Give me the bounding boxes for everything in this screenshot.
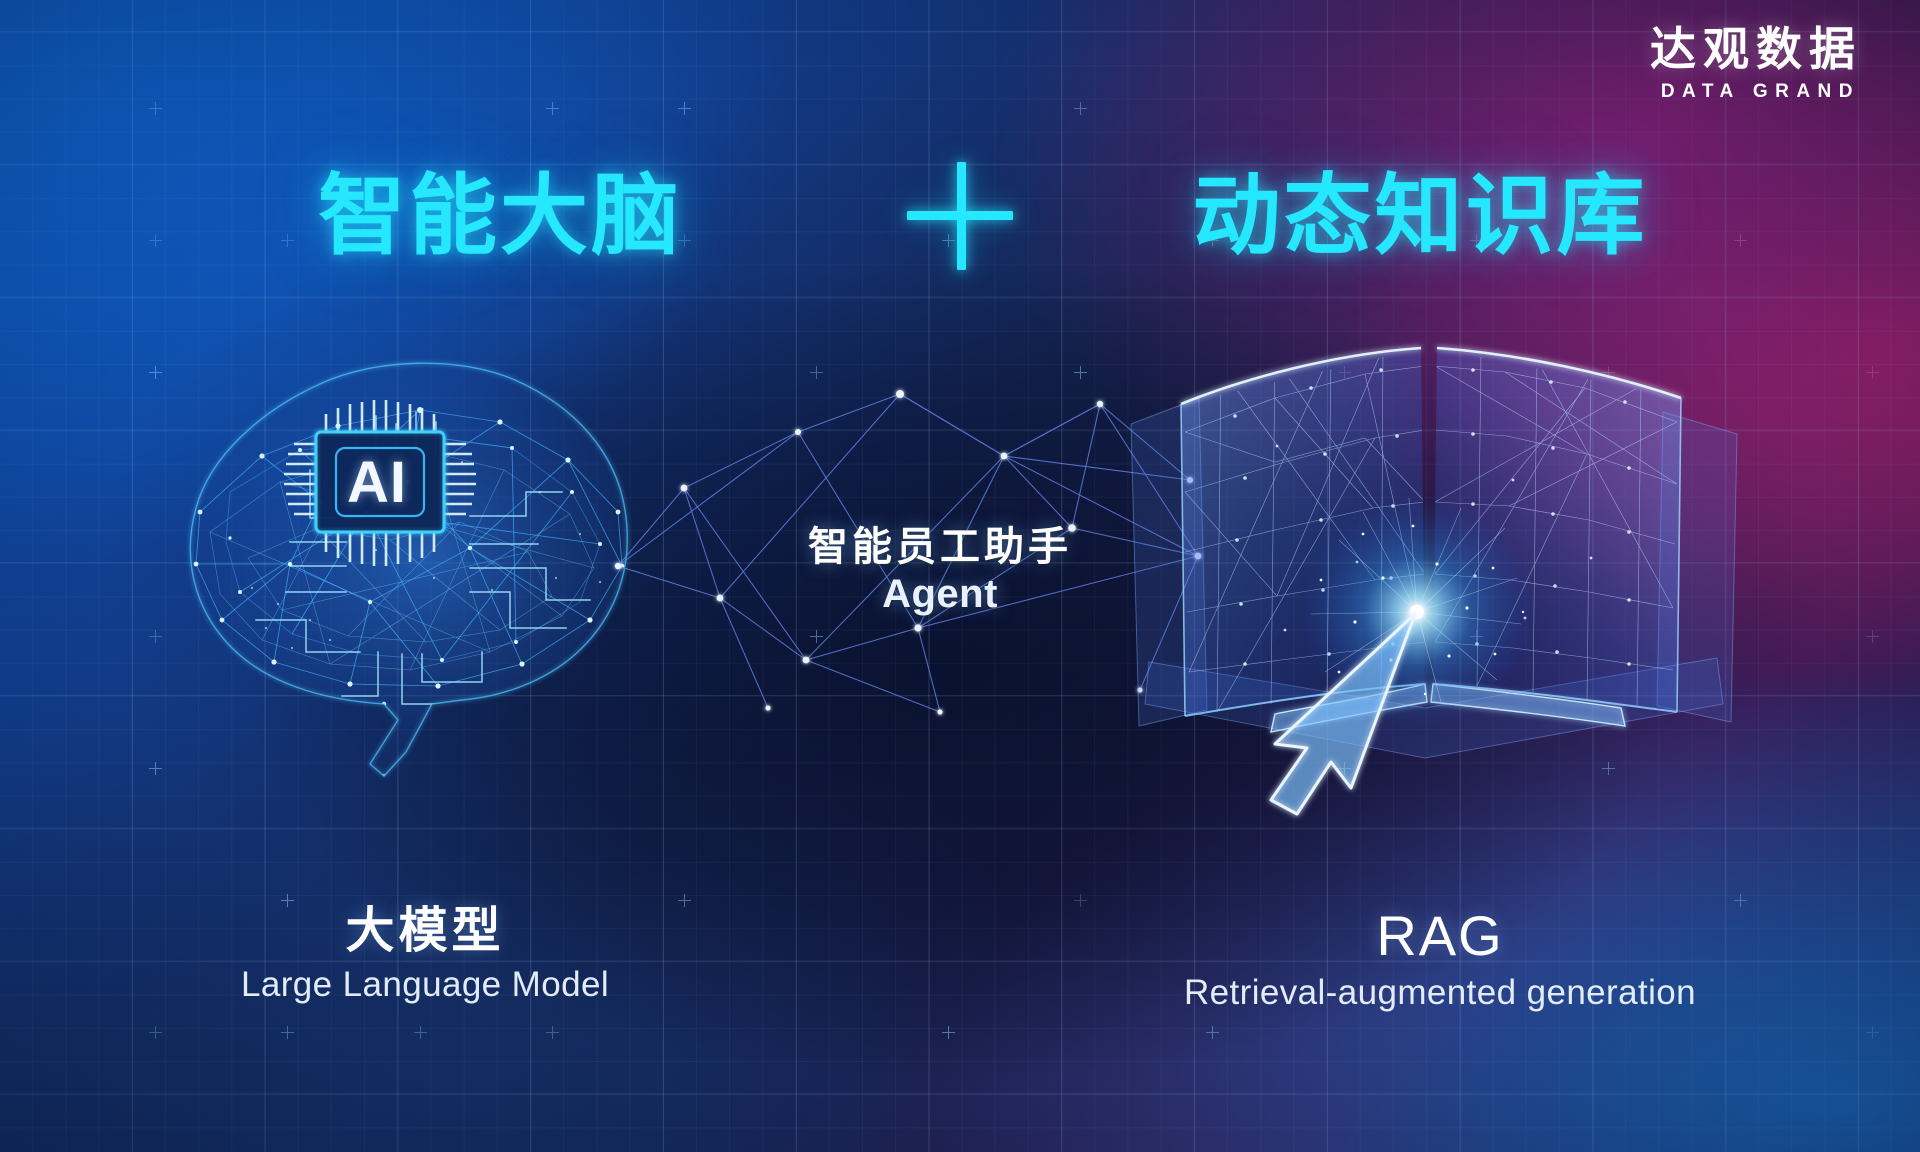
caption-rag: RAG Retrieval-augmented generation — [1060, 905, 1820, 1013]
grid-plus-mark — [149, 762, 162, 775]
grid-plus-mark — [149, 1026, 162, 1039]
headline-row: 智能大脑 动态知识库 — [0, 156, 1920, 276]
grid-plus-mark — [1206, 1026, 1219, 1039]
grid-plus-mark — [1074, 102, 1087, 115]
grid-plus-mark — [414, 1026, 427, 1039]
brand-logo: 达观数据 DATA GRAND — [1650, 26, 1862, 103]
poster-canvas: 达观数据 DATA GRAND 智能大脑 动态知识库 — [0, 0, 1920, 1152]
grid-plus-mark — [546, 1026, 559, 1039]
headline-right-cell: 动态知识库 — [1070, 172, 1770, 260]
open-book-icon — [1125, 312, 1745, 832]
grid-plus-mark — [281, 1026, 294, 1039]
grid-plus-mark — [149, 630, 162, 643]
caption-left-en: Large Language Model — [105, 965, 745, 1005]
headline-right: 动态知识库 — [1192, 172, 1647, 260]
grid-plus-mark — [1866, 366, 1879, 379]
headline-left-cell: 智能大脑 — [150, 172, 850, 260]
grid-plus-mark — [1866, 1026, 1879, 1039]
grid-plus-mark — [546, 102, 559, 115]
caption-right-en: Retrieval-augmented generation — [1060, 973, 1820, 1013]
grid-plus-mark — [149, 366, 162, 379]
headline-operator-cell — [850, 162, 1070, 270]
brand-name-en: DATA GRAND — [1650, 81, 1862, 103]
brand-name-cn: 达观数据 — [1650, 26, 1862, 74]
caption-large-language-model: 大模型 Large Language Model — [105, 905, 745, 1005]
grid-plus-mark — [942, 1026, 955, 1039]
grid-plus-mark — [1866, 630, 1879, 643]
caption-left-cn: 大模型 — [105, 905, 745, 959]
grid-plus-mark — [149, 102, 162, 115]
plus-icon — [907, 162, 1013, 270]
plus-icon-horizontal-bar — [907, 211, 1013, 220]
caption-right-cn: RAG — [1060, 905, 1820, 967]
headline-left: 智能大脑 — [318, 172, 682, 260]
grid-plus-mark — [678, 102, 691, 115]
